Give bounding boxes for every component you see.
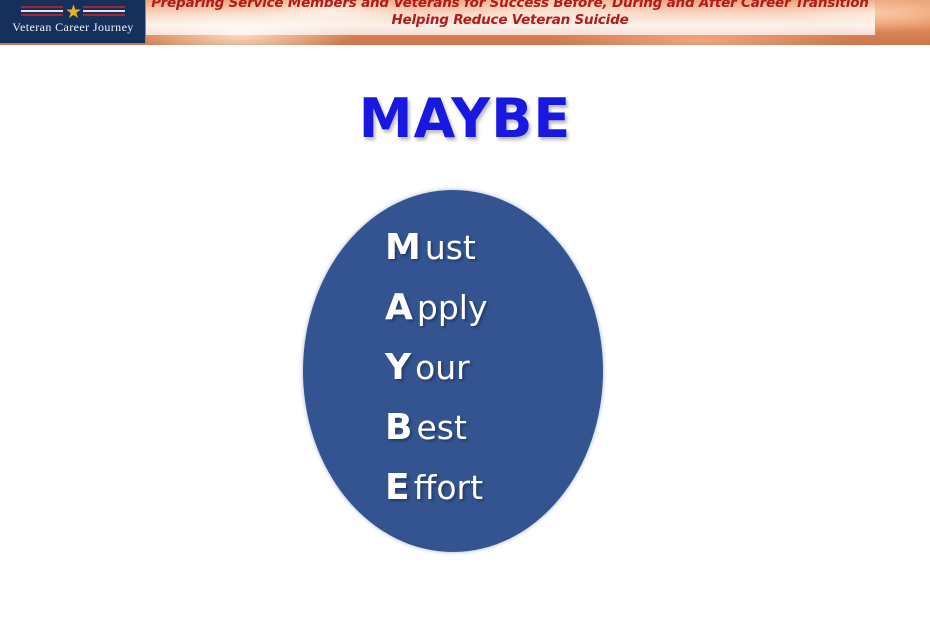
slogan-line-1: Preparing Service Members and Veterans f… [150,0,870,12]
site-logo[interactable]: ★ Veteran Career Journey [0,0,146,44]
page-title: MAYBE [0,90,930,148]
list-item: Must [385,221,476,281]
slogan-line-2: Helping Reduce Veteran Suicide [150,12,870,29]
list-item: Effort [385,461,483,521]
stripe-white-middle [83,10,125,12]
list-item: Best [385,401,467,461]
acronym-letter: M [385,227,421,268]
slide-canvas: MAYBE Must Apply Your Best Effort [0,45,930,620]
acronym-letter: Y [385,347,411,388]
list-item: Apply [385,281,487,341]
logo-stripes-left [21,6,63,17]
logo-stripes-right [83,6,125,17]
list-item: Your [385,341,470,401]
header-slogan: Preparing Service Members and Veterans f… [150,0,870,29]
acronym-list: Must Apply Your Best Effort [303,190,603,552]
logo-emblem: ★ [0,3,146,20]
acronym-letter: B [385,407,412,448]
stripe-red-top [83,6,125,8]
acronym-word: ffort [414,468,483,507]
acronym-word: ust [425,228,476,267]
stripe-red-top [21,6,63,8]
logo-name: Veteran Career Journey [0,20,146,35]
stripe-white-middle [21,10,63,12]
acronym-letter: E [385,467,410,508]
acronym-word: est [416,408,466,447]
site-header: Preparing Service Members and Veterans f… [0,0,930,45]
stripe-red-bottom [21,14,63,16]
acronym-letter: A [385,287,413,328]
stripe-red-bottom [83,14,125,16]
acronym-word: our [415,348,470,387]
acronym-word: pply [417,288,488,327]
